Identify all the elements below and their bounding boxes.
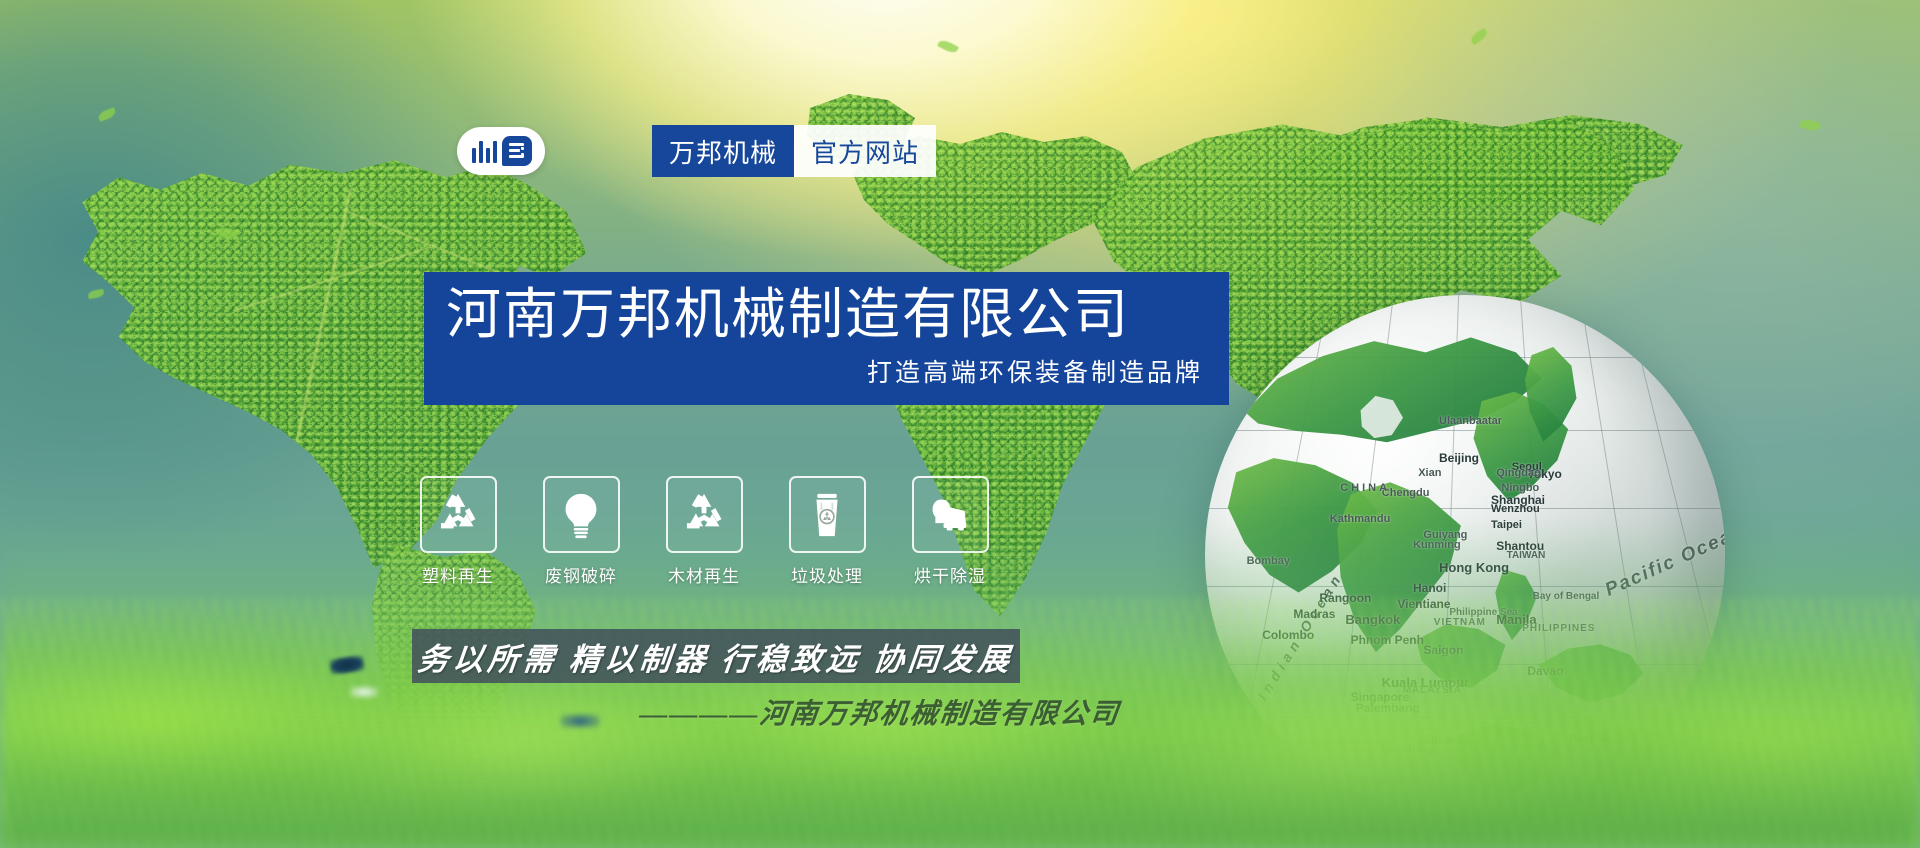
company-tagline: 打造高端环保装备制造品牌 <box>446 353 1203 389</box>
insect-silhouette <box>329 655 365 676</box>
lightbulb-icon <box>555 489 607 541</box>
trash-bin-icon <box>801 489 853 541</box>
globe-label-country-philippines: PHILIPPINES <box>1522 623 1595 634</box>
globe-label-colombo: Colombo <box>1262 628 1314 642</box>
leaf-continent-siberia <box>1270 100 1700 250</box>
globe-label-port-moresby: Port Moresby <box>1569 732 1646 746</box>
service-icon-box <box>912 476 989 553</box>
company-logo[interactable] <box>457 127 545 175</box>
globe-label-singapore: Singapore <box>1351 690 1410 704</box>
tab-wanbang-machinery[interactable]: 万邦机械 <box>652 125 794 177</box>
tab-label: 官方网站 <box>811 133 919 170</box>
tab-label: 万邦机械 <box>669 133 777 170</box>
globe-label-palembang: Palembang <box>1356 701 1420 715</box>
floating-leaf <box>215 225 239 240</box>
floating-leaf <box>1469 28 1489 45</box>
logo-w-icon <box>471 139 497 163</box>
logo-b-icon <box>502 136 532 166</box>
service-icon-box <box>666 476 743 553</box>
service-icon-row: 塑料再生 废钢破碎 <box>418 476 990 587</box>
floating-leaf <box>97 107 117 122</box>
service-icon-box <box>420 476 497 553</box>
globe-label-fuzhou: Taipei <box>1491 519 1522 531</box>
globe-label-madras: Madras <box>1293 607 1335 621</box>
site-nav-tabs: 万邦机械 官方网站 <box>652 125 936 177</box>
globe-label-pacific-ocean: Pacific Ocean <box>1602 520 1725 601</box>
floating-leaf <box>88 289 105 299</box>
globe-label-sea-philippine: Bay of Bengal <box>1533 591 1600 602</box>
globe-graphic: Pacific Ocean Indian Ocean Hong Kong Bei… <box>1205 295 1725 815</box>
service-icon-box <box>543 476 620 553</box>
service-item-wood-recycling[interactable]: 木材再生 <box>664 476 744 587</box>
leaf-continent-south-america <box>355 545 565 845</box>
service-item-waste-treatment[interactable]: 垃圾处理 <box>787 476 867 587</box>
highlight-speck <box>350 686 378 698</box>
recycle-icon <box>678 489 730 541</box>
service-label: 烘干除湿 <box>914 562 986 587</box>
globe-label-country-taiwan: TAIWAN <box>1507 550 1546 561</box>
floating-leaf <box>1799 117 1821 133</box>
dryer-machine-icon <box>924 489 976 541</box>
globe-label-bandung: Bandung <box>1382 742 1434 756</box>
slogan-ribbon: 务以所需 精以制器 行稳致远 协同发展 <box>412 629 1020 683</box>
slogan-text: 务以所需 精以制器 行稳致远 协同发展 <box>416 634 1016 679</box>
service-label: 垃圾处理 <box>791 562 863 587</box>
insect-silhouette <box>560 714 600 728</box>
globe-label-country-malaysia: MALAYSIA <box>1403 685 1462 696</box>
service-item-drying-dehumidifying[interactable]: 烘干除湿 <box>910 476 990 587</box>
globe-label-xian: Xian <box>1418 467 1441 479</box>
service-label: 木材再生 <box>668 562 740 587</box>
recycle-icon <box>432 489 484 541</box>
service-item-plastic-recycling[interactable]: 塑料再生 <box>418 476 498 587</box>
service-icon-box <box>789 476 866 553</box>
globe-label-beijing: Beijing <box>1439 451 1479 465</box>
tab-official-site[interactable]: 官方网站 <box>794 125 936 177</box>
service-item-scrap-steel-shredding[interactable]: 废钢破碎 <box>541 476 621 587</box>
service-label: 塑料再生 <box>422 562 494 587</box>
hero-banner: Pacific Ocean Indian Ocean Hong Kong Bei… <box>0 0 1920 848</box>
service-label: 废钢破碎 <box>545 562 617 587</box>
slogan-signature: ————河南万邦机械制造有限公司 <box>638 692 1113 732</box>
company-name: 河南万邦机械制造有限公司 <box>446 286 1203 342</box>
hero-title-banner: 河南万邦机械制造有限公司 打造高端环保装备制造品牌 <box>424 272 1229 405</box>
floating-leaf <box>937 38 959 55</box>
